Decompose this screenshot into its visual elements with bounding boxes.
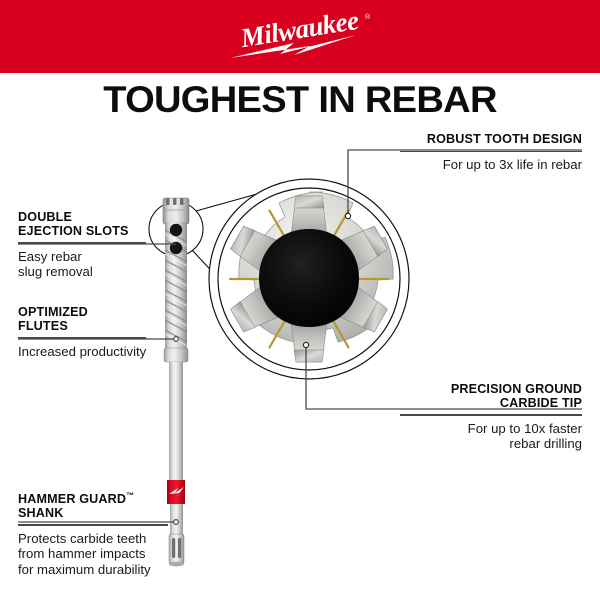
callout-body: Protects carbide teeth from hammer impac… <box>18 531 168 577</box>
callout-body: For up to 10x faster rebar drilling <box>400 421 582 452</box>
callout-hammer-guard-shank: HAMMER GUARD™ SHANK Protects carbide tee… <box>18 489 168 577</box>
ejection-slot-upper <box>170 224 182 236</box>
callout-rule <box>18 242 146 243</box>
callout-rule <box>400 414 582 415</box>
callout-precision-ground-carbide-tip: PRECISION GROUND CARBIDE TIP For up to 1… <box>400 383 582 451</box>
magnifier-view <box>209 179 409 379</box>
callout-body: Increased productivity <box>18 344 146 359</box>
callout-rule <box>400 151 582 152</box>
tip-center-bore <box>259 229 359 327</box>
trademark-symbol: ™ <box>126 491 134 500</box>
callout-body: For up to 3x life in rebar <box>400 157 582 172</box>
bit-shaft <box>169 362 183 480</box>
callout-rule <box>18 337 146 338</box>
callout-double-ejection-slots: DOUBLE EJECTION SLOTS Easy rebar slug re… <box>18 211 146 279</box>
callout-robust-tooth-design: ROBUST TOOTH DESIGN For up to 3x life in… <box>400 133 582 172</box>
bit-lower-shank <box>170 504 183 534</box>
callout-optimized-flutes: OPTIMIZED FLUTES Increased productivity <box>18 306 146 359</box>
callout-heading: PRECISION GROUND CARBIDE TIP <box>400 383 582 410</box>
infographic-root: Milwaukee ® TOUGHEST IN REBAR <box>0 0 600 600</box>
bit-head-teeth <box>166 198 184 205</box>
bit-red-collar <box>167 480 185 504</box>
callout-heading: ROBUST TOOTH DESIGN <box>400 133 582 147</box>
carbide-tooth <box>291 322 327 362</box>
bit-sds-shank <box>169 534 184 564</box>
callout-body: Easy rebar slug removal <box>18 249 146 280</box>
callout-rule <box>18 524 168 525</box>
bit-shoulder <box>164 348 188 362</box>
callout-heading: OPTIMIZED FLUTES <box>18 306 146 333</box>
callout-heading: DOUBLE EJECTION SLOTS <box>18 211 146 238</box>
callout-heading: HAMMER GUARD™ SHANK <box>18 489 168 520</box>
